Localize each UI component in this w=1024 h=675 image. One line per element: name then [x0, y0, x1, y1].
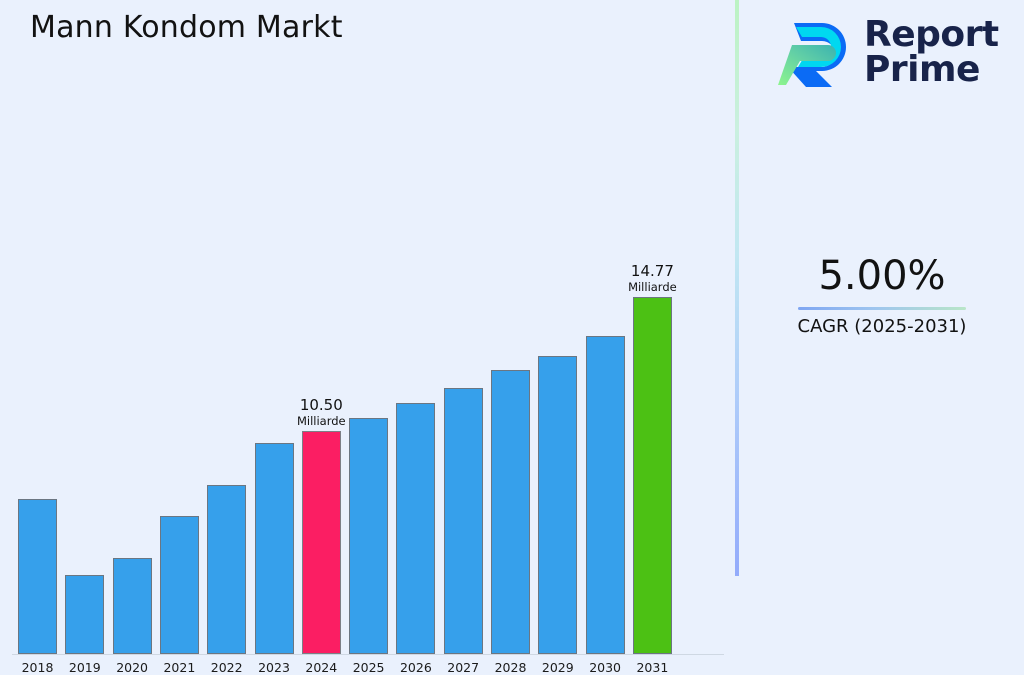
report-prime-r-mark — [776, 15, 854, 91]
bar-rect-2028[interactable] — [491, 370, 530, 654]
bar-2024[interactable]: Milliarde10.50 — [302, 120, 341, 654]
bar-rect-2024[interactable] — [302, 431, 341, 654]
report-prime-logo: Report Prime — [776, 12, 1016, 94]
x-tick-2030: 2030 — [580, 660, 631, 675]
infographic-page: Mann Kondom Markt Milliarde10.50Milliard… — [0, 0, 1024, 576]
bar-2020[interactable] — [113, 120, 152, 654]
bar-rect-2020[interactable] — [113, 558, 152, 654]
bar-2030[interactable] — [586, 120, 625, 654]
x-tick-2026: 2026 — [390, 660, 441, 675]
x-tick-2031: 2031 — [627, 660, 678, 675]
bar-rect-2029[interactable] — [538, 356, 577, 654]
bar-rect-2027[interactable] — [444, 388, 483, 654]
bar-value-2024: 10.50 — [300, 397, 343, 414]
bar-2028[interactable] — [491, 120, 530, 654]
bar-2023[interactable] — [255, 120, 294, 654]
x-tick-2023: 2023 — [249, 660, 300, 675]
brand-wordmark: Report Prime — [864, 18, 999, 88]
bar-rect-2031[interactable] — [633, 297, 672, 654]
x-tick-2020: 2020 — [107, 660, 158, 675]
x-tick-2021: 2021 — [154, 660, 205, 675]
x-tick-2019: 2019 — [59, 660, 110, 675]
bar-2022[interactable] — [207, 120, 246, 654]
brand-name-line2: Prime — [864, 53, 999, 88]
bar-chart: Milliarde10.50Milliarde14.77 20182019202… — [0, 0, 736, 576]
x-tick-2028: 2028 — [485, 660, 536, 675]
bar-value-2031: 14.77 — [631, 263, 674, 280]
bar-2026[interactable] — [396, 120, 435, 654]
x-axis-line — [12, 654, 724, 655]
cagr-divider-rule — [798, 307, 966, 310]
x-tick-2022: 2022 — [201, 660, 252, 675]
x-tick-2018: 2018 — [12, 660, 63, 675]
brand-panel: Report Prime 5.00% CAGR (2025-2031) — [740, 0, 1024, 576]
bar-rect-2030[interactable] — [586, 336, 625, 654]
bar-rect-2021[interactable] — [160, 516, 199, 654]
bar-rect-2023[interactable] — [255, 443, 294, 654]
bar-rect-2026[interactable] — [396, 403, 435, 654]
brand-name-line1: Report — [864, 18, 999, 53]
bar-2025[interactable] — [349, 120, 388, 654]
cagr-label: CAGR (2025-2031) — [740, 316, 1024, 338]
bar-2027[interactable] — [444, 120, 483, 654]
bar-rect-2018[interactable] — [18, 499, 57, 654]
cagr-block: 5.00% CAGR (2025-2031) — [740, 252, 1024, 338]
x-tick-2025: 2025 — [343, 660, 394, 675]
bar-2021[interactable] — [160, 120, 199, 654]
x-tick-2029: 2029 — [532, 660, 583, 675]
bar-2019[interactable] — [65, 120, 104, 654]
cagr-value: 5.00% — [740, 252, 1024, 300]
bar-2031[interactable]: Milliarde14.77 — [633, 120, 672, 654]
bar-2029[interactable] — [538, 120, 577, 654]
plot-area: Milliarde10.50Milliarde14.77 20182019202… — [0, 120, 730, 535]
bar-rect-2022[interactable] — [207, 485, 246, 654]
x-tick-2024: 2024 — [296, 660, 347, 675]
x-tick-2027: 2027 — [438, 660, 489, 675]
bar-2018[interactable] — [18, 120, 57, 654]
panel-divider — [735, 0, 739, 576]
bar-unit-2024: Milliarde — [297, 415, 346, 428]
bar-unit-2031: Milliarde — [628, 281, 677, 294]
bar-rect-2025[interactable] — [349, 418, 388, 654]
bar-rect-2019[interactable] — [65, 575, 104, 654]
